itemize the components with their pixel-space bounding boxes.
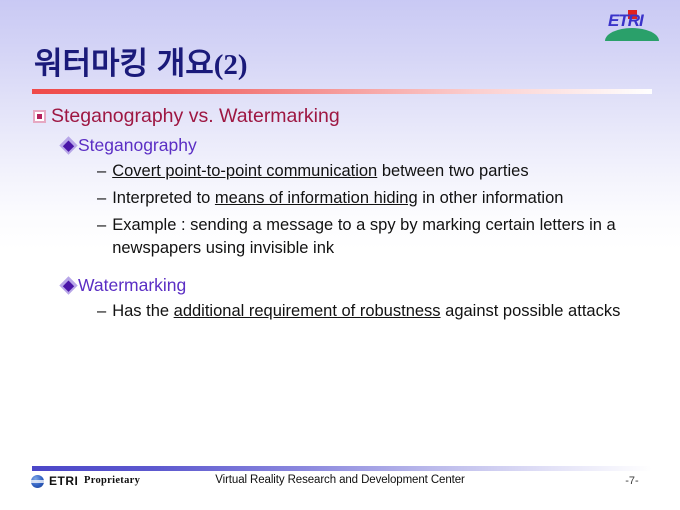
bullet-level3-label: Interpreted to means of information hidi…	[112, 187, 563, 210]
footer-divider	[32, 466, 652, 471]
text-plain: between two parties	[377, 162, 528, 180]
text-underlined: Covert point-to-point communication	[112, 162, 377, 180]
bullet-level2-steganography: Steganography	[62, 134, 680, 156]
bullet-level2-watermarking: Watermarking	[62, 274, 680, 296]
bullet-level3: – Covert point-to-point communication be…	[97, 160, 656, 183]
bullet-level1-label: Steganography vs. Watermarking	[51, 104, 340, 128]
bullet-level2-label: Steganography	[78, 134, 197, 156]
square-bullet-icon	[33, 110, 46, 123]
text-underlined: additional requirement of robustness	[174, 302, 441, 320]
dash-marker: –	[97, 214, 106, 237]
text-plain: Interpreted to	[112, 189, 215, 207]
bullet-level1: Steganography vs. Watermarking	[33, 104, 680, 128]
dash-marker: –	[97, 300, 106, 323]
text-plain: Has the	[112, 302, 173, 320]
text-underlined: means of information hiding	[215, 189, 418, 207]
bullet-level2-label: Watermarking	[78, 274, 186, 296]
slide-footer: ETRI Proprietary Virtual Reality Researc…	[0, 472, 680, 498]
title-divider	[32, 89, 652, 94]
diamond-bullet-icon	[59, 276, 77, 294]
footer-center-text: Virtual Reality Research and Development…	[0, 474, 680, 486]
dash-marker: –	[97, 187, 106, 210]
slide: ETRI 워터마킹 개요(2) Steganography vs. Waterm…	[0, 0, 680, 510]
page-number: -7-	[612, 475, 652, 487]
bullet-level3-label: Has the additional requirement of robust…	[112, 300, 620, 323]
bullet-level3: – Interpreted to means of information hi…	[97, 187, 656, 210]
etri-logo: ETRI	[604, 11, 660, 39]
page-title-suffix: (2)	[214, 49, 248, 81]
page-title-main: 워터마킹 개요	[34, 46, 214, 81]
bullet-level3: – Example : sending a message to a spy b…	[97, 214, 656, 260]
bullet-level3-label: Example : sending a message to a spy by …	[112, 214, 656, 260]
bullet-level3-label: Covert point-to-point communication betw…	[112, 160, 528, 183]
diamond-bullet-icon	[59, 136, 77, 154]
text-plain: in other information	[418, 189, 564, 207]
slide-body: Steganography vs. Watermarking Steganogr…	[0, 104, 680, 323]
page-title: 워터마킹 개요(2)	[34, 38, 248, 83]
text-plain: against possible attacks	[441, 302, 621, 320]
etri-logo-wordmark: ETRI	[608, 11, 643, 30]
bullet-level3: – Has the additional requirement of robu…	[97, 300, 656, 323]
dash-marker: –	[97, 160, 106, 183]
